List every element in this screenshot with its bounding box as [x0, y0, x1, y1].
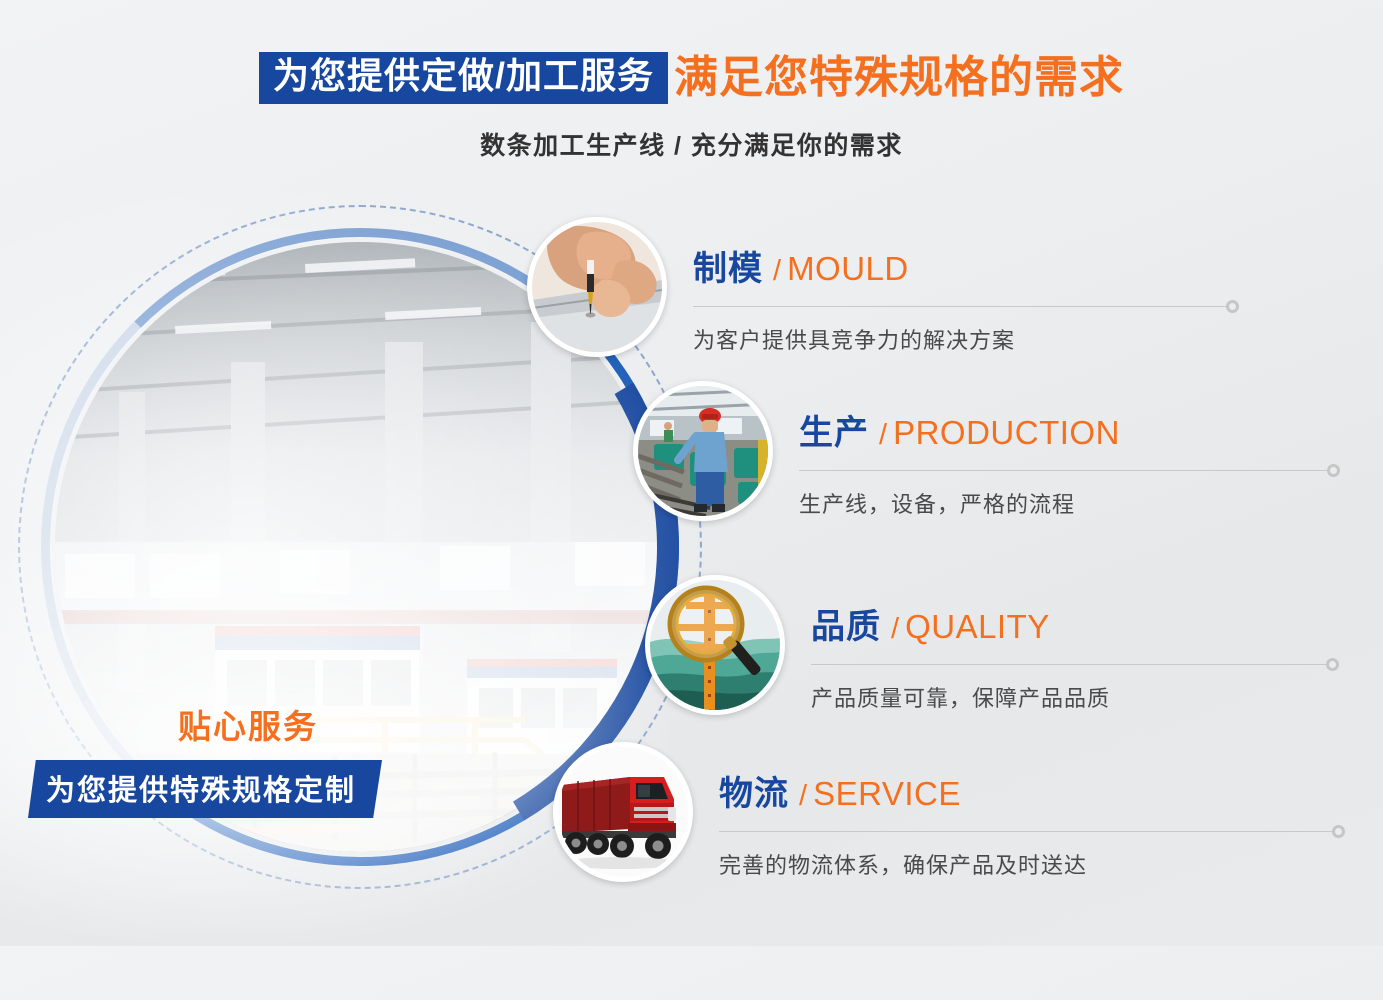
feature-slash: /: [773, 255, 781, 287]
page-title-badge: 为您提供定做/加工服务: [259, 52, 668, 104]
feature-title-en: PRODUCTION: [893, 414, 1120, 451]
page-title-accent: 满足您特殊规格的需求: [674, 56, 1124, 100]
feature-desc: 生产线，设备，严格的流程: [799, 487, 1334, 519]
feature-title-en: QUALITY: [905, 608, 1050, 645]
rule-end-dot-icon: [1332, 825, 1345, 838]
feature-heading-quality: 品质 / QUALITY: [811, 599, 1333, 648]
feature-rule: [693, 306, 1233, 307]
feature-item-service[interactable]: 物流 / SERVICE 完善的物流体系，确保产品及时送达: [553, 742, 1339, 882]
magnifier-inspection-icon: [645, 575, 785, 715]
feature-title-en: SERVICE: [813, 775, 961, 812]
feature-item-production[interactable]: 生产 / PRODUCTION 生产线，设备，严格的流程: [633, 381, 1334, 521]
worker-machinery-icon: [633, 381, 773, 521]
title-row: 为您提供定做/加工服务 满足您特殊规格的需求: [0, 52, 1383, 104]
feature-title-cn: 生产: [799, 414, 869, 452]
feature-title-cn: 品质: [811, 608, 881, 646]
feature-rule: [799, 470, 1334, 471]
feature-item-mould[interactable]: 制模 / MOULD 为客户提供具竞争力的解决方案: [527, 217, 1233, 357]
feature-body-service: 物流 / SERVICE 完善的物流体系，确保产品及时送达: [719, 742, 1339, 880]
page-header: 为您提供定做/加工服务 满足您特殊规格的需求 数条加工生产线 / 充分满足你的需…: [0, 0, 1383, 162]
feature-heading-production: 生产 / PRODUCTION: [799, 405, 1334, 454]
feature-title-cn: 物流: [719, 775, 789, 813]
feature-heading-service: 物流 / SERVICE: [719, 766, 1339, 815]
feature-title-en: MOULD: [787, 250, 909, 287]
feature-body-quality: 品质 / QUALITY 产品质量可靠，保障产品品质: [811, 575, 1333, 713]
feature-slash: /: [891, 613, 899, 645]
feature-heading-mould: 制模 / MOULD: [693, 241, 1233, 290]
rule-end-dot-icon: [1327, 464, 1340, 477]
feature-desc: 为客户提供具竞争力的解决方案: [693, 323, 1233, 355]
feature-title-cn: 制模: [693, 250, 763, 288]
feature-rule: [719, 831, 1339, 832]
rule-end-dot-icon: [1226, 300, 1239, 313]
feature-slash: /: [879, 419, 887, 451]
hand-scribe-icon: [527, 217, 667, 357]
red-truck-icon: [553, 742, 693, 882]
feature-desc: 产品质量可靠，保障产品品质: [811, 681, 1333, 713]
rule-end-dot-icon: [1326, 658, 1339, 671]
feature-body-mould: 制模 / MOULD 为客户提供具竞争力的解决方案: [693, 217, 1233, 355]
page-subtitle: 数条加工生产线 / 充分满足你的需求: [0, 126, 1383, 162]
feature-body-production: 生产 / PRODUCTION 生产线，设备，严格的流程: [799, 381, 1334, 519]
feature-desc: 完善的物流体系，确保产品及时送达: [719, 848, 1339, 880]
feature-slash: /: [799, 780, 807, 812]
feature-rule: [811, 664, 1333, 665]
feature-item-quality[interactable]: 品质 / QUALITY 产品质量可靠，保障产品品质: [645, 575, 1333, 715]
